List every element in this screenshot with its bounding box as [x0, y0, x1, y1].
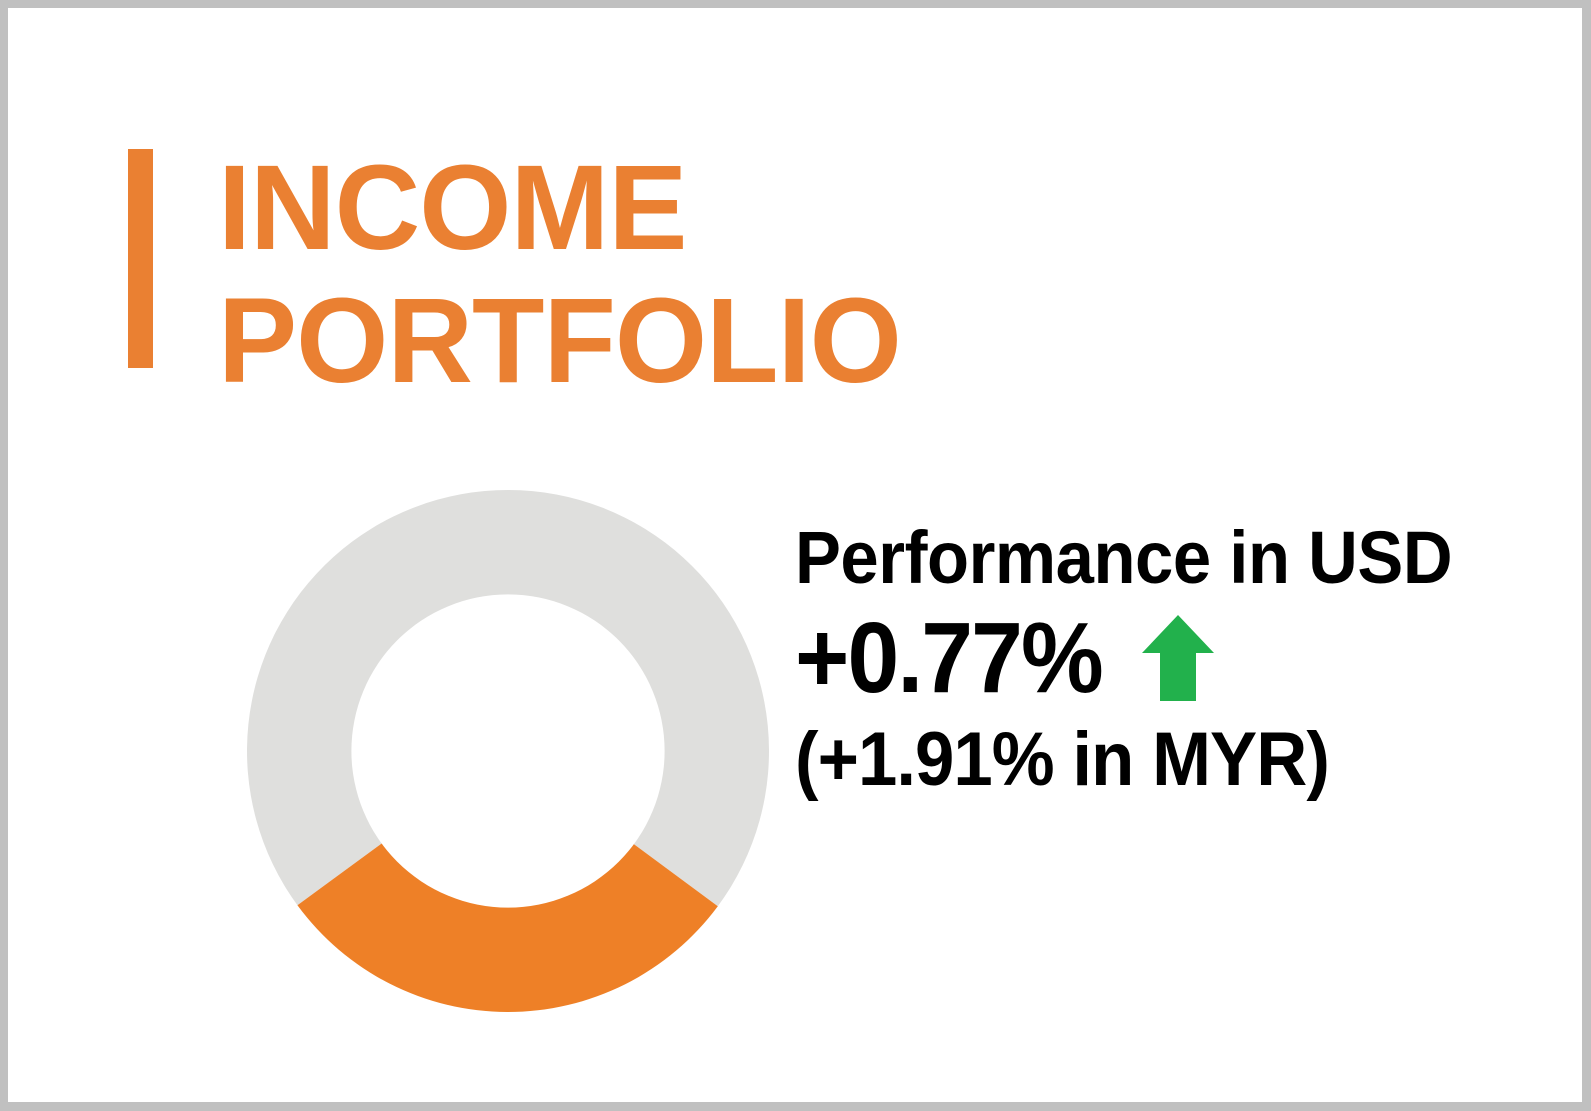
- donut-hole: [351, 594, 664, 907]
- up-arrow-icon: [1139, 612, 1217, 704]
- portfolio-donut-chart: [243, 489, 773, 1013]
- title-text: INCOME PORTFOLIO: [218, 141, 915, 407]
- performance-secondary: (+1.91% in MYR): [795, 716, 1452, 804]
- title-line-income: INCOME: [218, 141, 901, 274]
- title-line-portfolio: PORTFOLIO: [218, 274, 901, 407]
- slide-frame: INCOME PORTFOLIO Performance in USD +0.7…: [0, 0, 1591, 1111]
- title-accent-bar: [128, 149, 153, 368]
- performance-summary: Performance in USD +0.77% (+1.91% in MYR…: [795, 516, 1502, 804]
- slide-page: INCOME PORTFOLIO Performance in USD +0.7…: [8, 8, 1582, 1102]
- page-title: INCOME PORTFOLIO: [128, 141, 915, 407]
- up-arrow-shape: [1142, 615, 1214, 701]
- performance-value: +0.77%: [795, 602, 1102, 714]
- performance-main-row: +0.77%: [795, 602, 1502, 714]
- donut-chart-svg: [243, 489, 773, 1013]
- performance-heading: Performance in USD: [795, 516, 1452, 600]
